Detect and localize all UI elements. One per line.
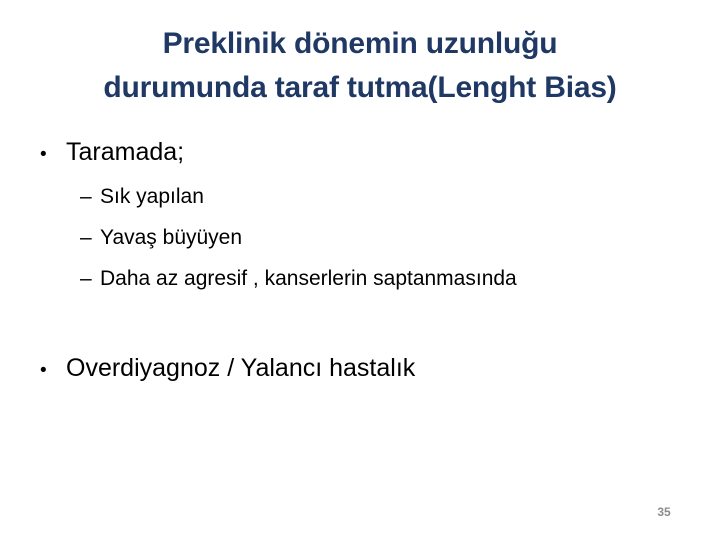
slide-title-line-2: durumunda taraf tutma(Lenght Bias) bbox=[30, 66, 690, 110]
dash-icon: – bbox=[80, 258, 100, 299]
bullet-text: Daha az agresif , kanserlerin saptanması… bbox=[100, 258, 517, 299]
slide-number: 35 bbox=[644, 504, 684, 520]
slide-title: Preklinik dönemin uzunluğu durumunda tar… bbox=[30, 22, 690, 110]
bullet-item-yavas-buyuyen: – Yavaş büyüyen bbox=[0, 217, 720, 258]
bullet-text: Sık yapılan bbox=[100, 176, 204, 217]
bullet-item-overdiyagnoz: • Overdiyagnoz / Yalancı hastalık bbox=[0, 347, 720, 392]
bullet-dot-icon: • bbox=[40, 350, 66, 392]
bullet-item-daha-az-agresif: – Daha az agresif , kanserlerin saptanma… bbox=[0, 258, 720, 299]
slide-title-line-1: Preklinik dönemin uzunluğu bbox=[30, 22, 690, 66]
bullet-dot-icon: • bbox=[40, 134, 66, 176]
slide-canvas: Preklinik dönemin uzunluğu durumunda tar… bbox=[0, 0, 720, 540]
dash-icon: – bbox=[80, 217, 100, 258]
slide-body: • Taramada; – Sık yapılan – Yavaş büyüye… bbox=[0, 131, 720, 392]
bullet-text: Taramada; bbox=[66, 131, 184, 173]
body-spacer bbox=[0, 299, 720, 347]
bullet-text: Yavaş büyüyen bbox=[100, 217, 242, 258]
dash-icon: – bbox=[80, 176, 100, 217]
bullet-item-taramada: • Taramada; bbox=[0, 131, 720, 176]
bullet-item-sik-yapilan: – Sık yapılan bbox=[0, 176, 720, 217]
bullet-text: Overdiyagnoz / Yalancı hastalık bbox=[66, 347, 415, 389]
